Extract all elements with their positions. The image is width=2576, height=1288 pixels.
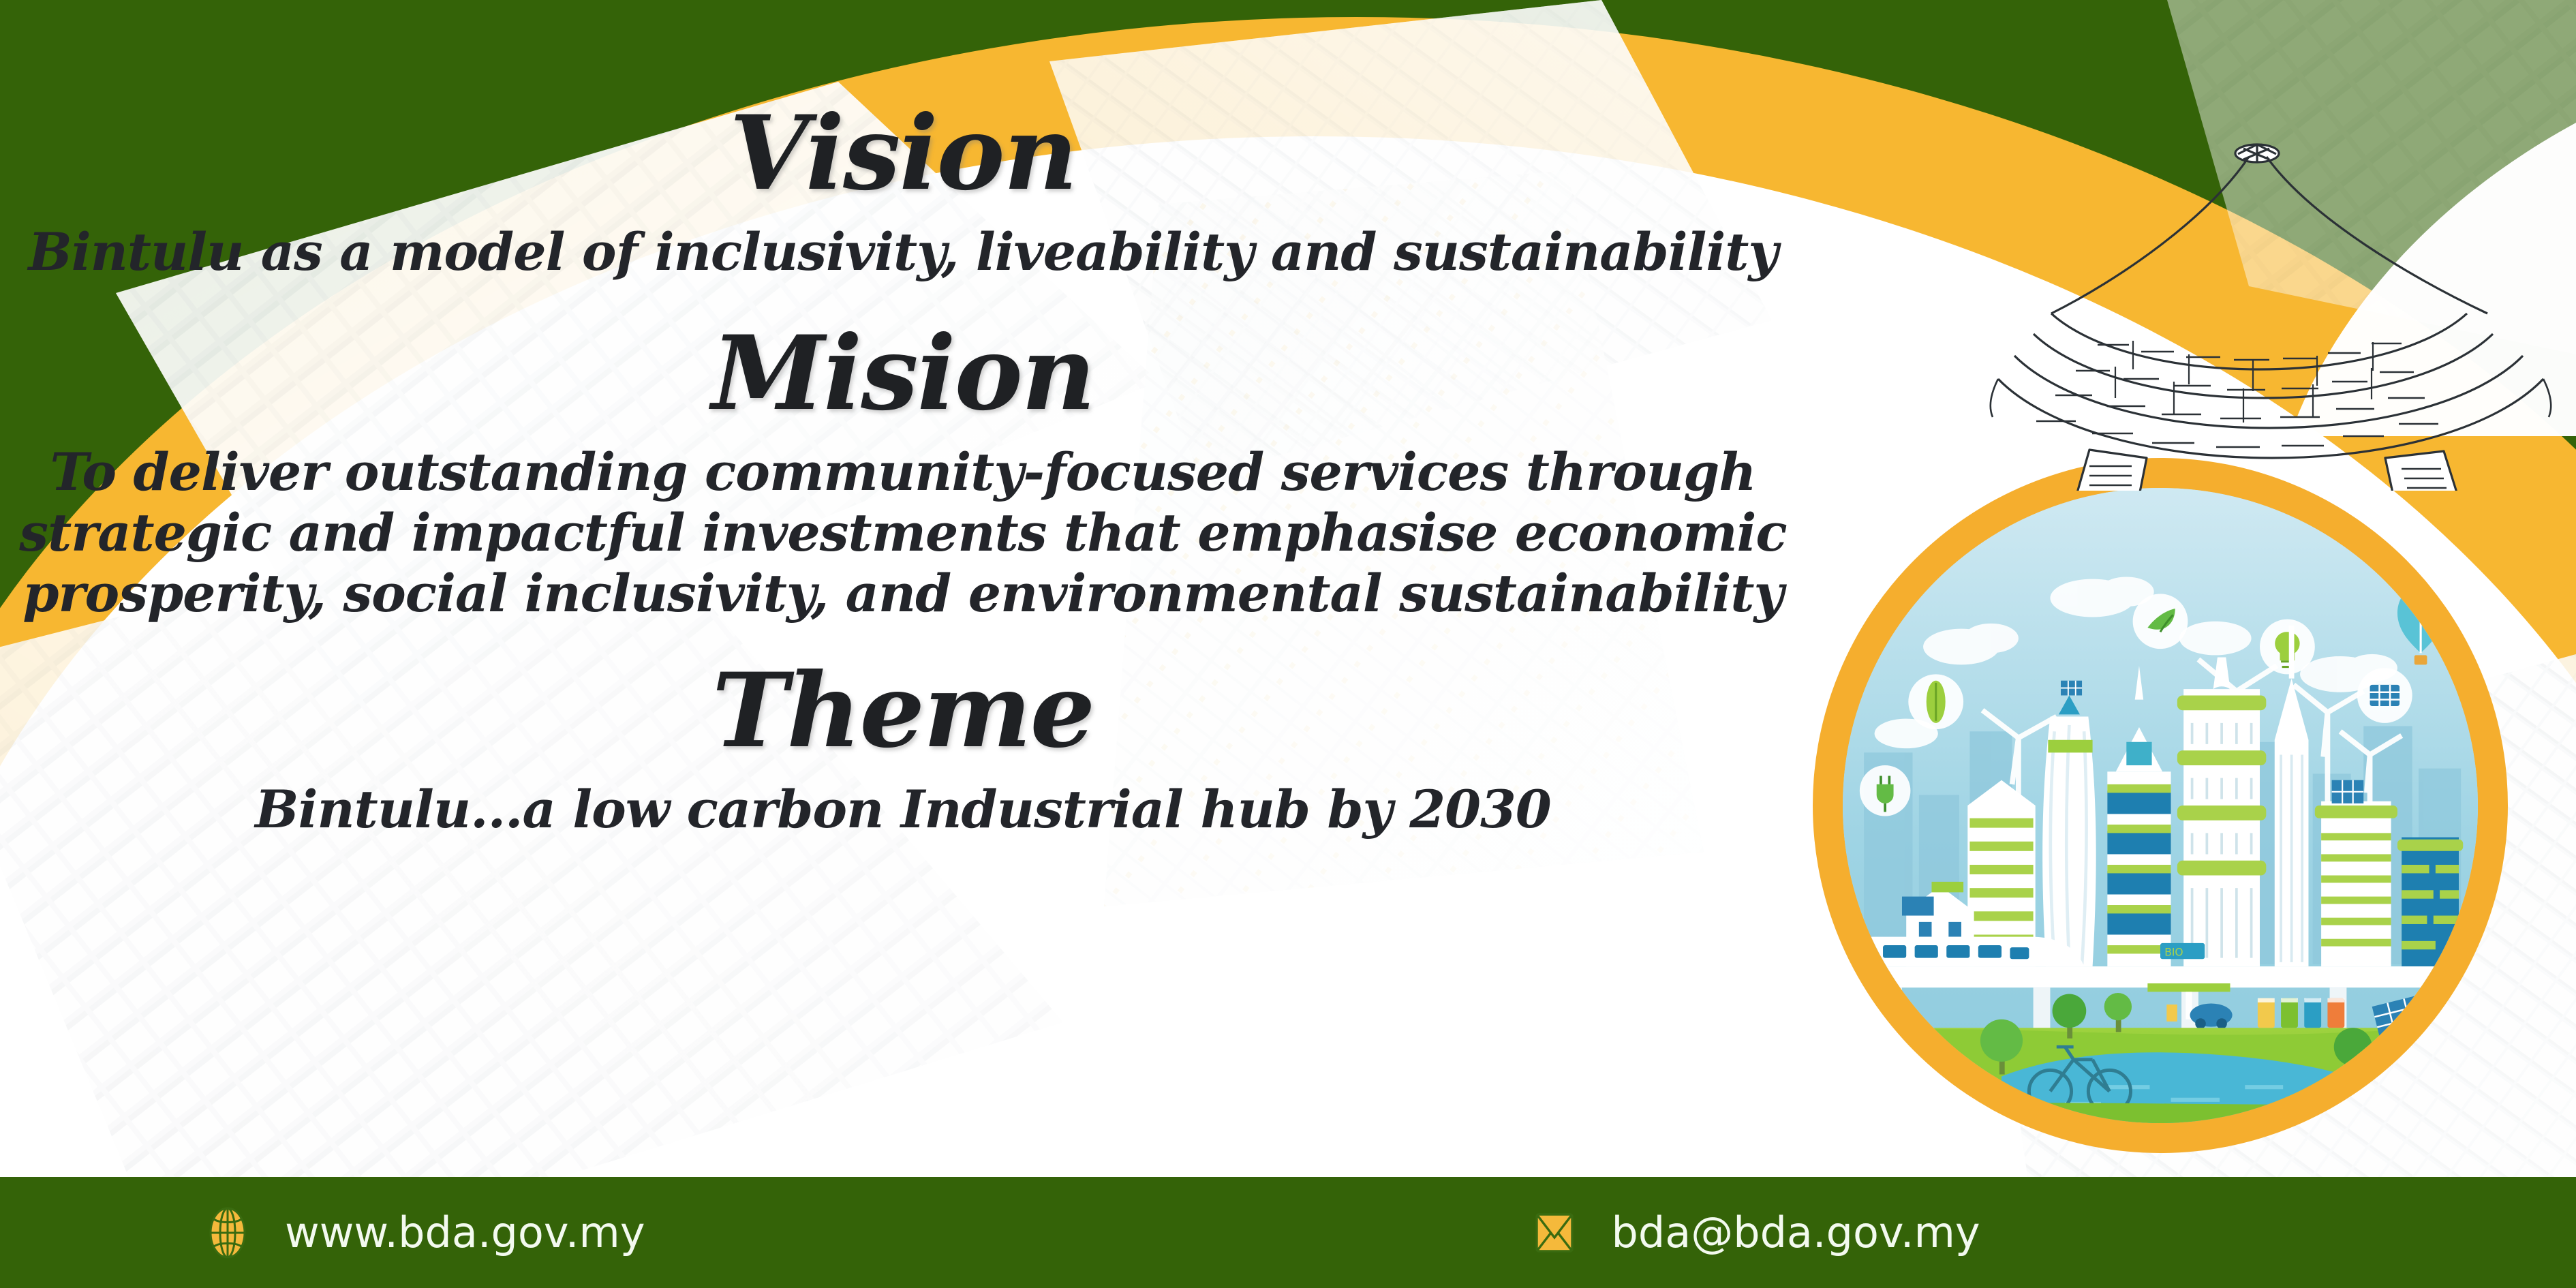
theme-heading: Theme: [0, 660, 1806, 762]
envelope-icon: [1531, 1206, 1578, 1259]
message-block: Vision Bintulu as a model of inclusivity…: [0, 102, 1806, 840]
theme-line-1: Bintulu...a low carbon Industrial hub by…: [0, 780, 1806, 840]
mission-heading: Mision: [0, 322, 1806, 425]
globe-icon: [204, 1206, 251, 1259]
svg-text:BIO: BIO: [2164, 947, 2183, 959]
vision-line-1: Bintulu as a model of inclusivity, livea…: [0, 222, 1806, 283]
mission-line-2: strategic and impactful investments that…: [0, 503, 1806, 564]
email-label: bda@bda.gov.my: [1612, 1208, 1980, 1257]
vision-heading: Vision: [0, 102, 1806, 204]
banner-root: BIO: [0, 0, 2576, 1288]
conical-dome-building-linework: [1949, 109, 2562, 491]
email-contact[interactable]: bda@bda.gov.my: [1531, 1206, 1980, 1259]
website-label: www.bda.gov.my: [285, 1208, 645, 1257]
eco-city-illustration: BIO: [1813, 458, 2508, 1153]
mission-line-3: prosperity, social inclusivity, and envi…: [0, 564, 1806, 624]
mission-line-1: To deliver outstanding community-focused…: [0, 442, 1806, 503]
contact-footer: www.bda.gov.my bda@bda.gov.my: [0, 1177, 2576, 1288]
website-contact[interactable]: www.bda.gov.my: [204, 1206, 645, 1259]
